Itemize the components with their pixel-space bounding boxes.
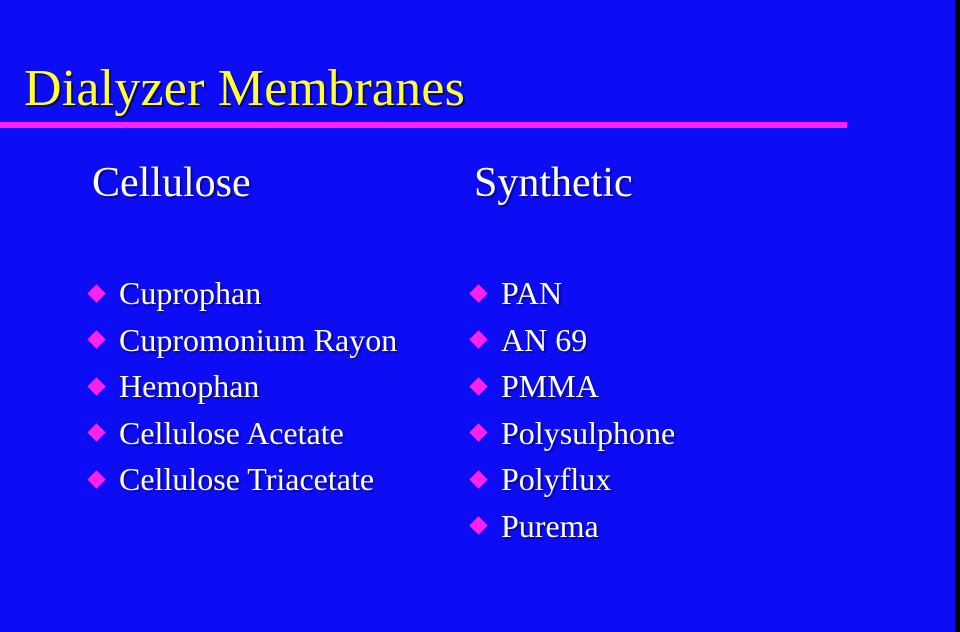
title-divider-rule: [0, 122, 847, 128]
content-columns: Cellulose Cuprophan Cupromonium Rayon He…: [0, 156, 960, 576]
list-item-label: Polyflux: [501, 462, 611, 496]
list-item: Hemophan: [88, 363, 397, 410]
presentation-slide: Dialyzer Membranes Cellulose Cuprophan C…: [0, 0, 960, 632]
diamond-bullet-icon: [87, 284, 105, 302]
list-item: Cuprophan: [88, 270, 397, 317]
bullet-list-synthetic: PAN AN 69 PMMA Polysulphone Polyflux: [470, 270, 675, 549]
list-item-label: Hemophan: [119, 369, 259, 403]
list-item-label: AN 69: [501, 323, 587, 357]
diamond-bullet-icon: [87, 331, 105, 349]
title-block: Dialyzer Membranes: [0, 58, 900, 120]
column-synthetic: Synthetic PAN AN 69 PMMA Polysulphone: [470, 156, 890, 210]
diamond-bullet-icon: [469, 424, 487, 442]
list-item-label: Cellulose Acetate: [119, 416, 344, 450]
list-item-label: Purema: [501, 509, 599, 543]
diamond-bullet-icon: [87, 424, 105, 442]
list-item-label: Polysulphone: [501, 416, 675, 450]
column-heading-synthetic: Synthetic: [474, 156, 890, 210]
diamond-bullet-icon: [87, 377, 105, 395]
list-item: Purema: [470, 503, 675, 550]
list-item-label: Cellulose Triacetate: [119, 462, 374, 496]
list-item: Cellulose Acetate: [88, 410, 397, 457]
list-item-label: PAN: [501, 276, 562, 310]
diamond-bullet-icon: [469, 377, 487, 395]
column-cellulose: Cellulose Cuprophan Cupromonium Rayon He…: [88, 156, 468, 210]
list-item: Cellulose Triacetate: [88, 456, 397, 503]
list-item-label: Cupromonium Rayon: [119, 323, 397, 357]
list-item-label: PMMA: [501, 369, 599, 403]
diamond-bullet-icon: [87, 470, 105, 488]
list-item: AN 69: [470, 317, 675, 364]
diamond-bullet-icon: [469, 284, 487, 302]
diamond-bullet-icon: [469, 470, 487, 488]
list-item: Cupromonium Rayon: [88, 317, 397, 364]
list-item: Polysulphone: [470, 410, 675, 457]
page-title: Dialyzer Membranes: [0, 58, 900, 120]
list-item-label: Cuprophan: [119, 276, 261, 310]
bullet-list-cellulose: Cuprophan Cupromonium Rayon Hemophan Cel…: [88, 270, 397, 503]
list-item: Polyflux: [470, 456, 675, 503]
diamond-bullet-icon: [469, 517, 487, 535]
list-item: PMMA: [470, 363, 675, 410]
list-item: PAN: [470, 270, 675, 317]
column-heading-cellulose: Cellulose: [92, 156, 468, 210]
diamond-bullet-icon: [469, 331, 487, 349]
